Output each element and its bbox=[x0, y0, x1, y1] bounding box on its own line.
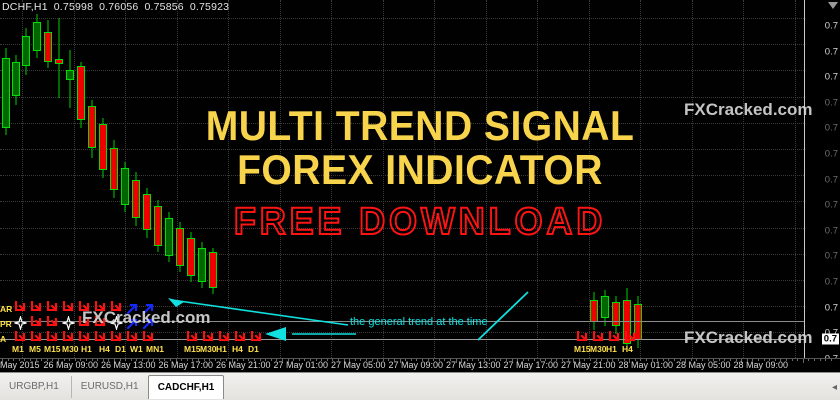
signal-arrow-down bbox=[78, 331, 91, 345]
chart-tab-cadchf-h1[interactable]: CADCHF,H1 bbox=[148, 375, 225, 399]
annotation-label: the general trend at the time bbox=[350, 316, 488, 328]
signal-arrow-down bbox=[592, 331, 605, 345]
metatrader-chart-window: DCHF,H10.759980.760560.758560.75923 ARPR… bbox=[0, 0, 840, 400]
timeframe-label: M30 bbox=[62, 344, 79, 354]
signal-arrow-down bbox=[14, 301, 27, 315]
timeframe-label: M1 bbox=[12, 344, 24, 354]
timeframe-label: H4 bbox=[99, 344, 110, 354]
timeframe-label: M15 bbox=[44, 344, 61, 354]
signal-arrow-down bbox=[62, 301, 75, 315]
promo-title-line1: MULTI TREND SIGNAL bbox=[29, 104, 810, 148]
timeframe-label: D1 bbox=[115, 344, 126, 354]
timeframe-label: H1 bbox=[81, 344, 92, 354]
tabbar-overflow-icon[interactable]: ◂ bbox=[832, 382, 837, 393]
timeframe-label: H4 bbox=[232, 344, 243, 354]
signal-arrow-down bbox=[624, 331, 637, 345]
signal-arrow-neutral bbox=[14, 316, 27, 330]
timeframe-label: M30 bbox=[200, 344, 217, 354]
watermark-center-left: FXCracked.com bbox=[82, 308, 211, 328]
signal-arrow-down bbox=[234, 331, 247, 345]
signal-arrow-down bbox=[186, 331, 199, 345]
signal-row-label: AR bbox=[0, 304, 12, 314]
signal-arrow-down bbox=[250, 331, 263, 345]
signal-arrow-down bbox=[62, 331, 75, 345]
signal-arrow-down bbox=[46, 331, 59, 345]
signal-row-label: A bbox=[0, 334, 6, 344]
signal-arrow-neutral bbox=[62, 316, 75, 330]
timeframe-label: M15 bbox=[184, 344, 201, 354]
signal-row-label: PR bbox=[0, 319, 12, 329]
signal-arrow-down bbox=[218, 331, 231, 345]
signal-arrow-down bbox=[608, 331, 621, 345]
signal-arrow-down bbox=[126, 331, 139, 345]
signal-arrow-down bbox=[142, 331, 155, 345]
chart-tab-eurusd-h1[interactable]: EURUSD,H1 bbox=[71, 376, 148, 398]
timeframe-label: M30 bbox=[590, 344, 607, 354]
chart-tab-bar[interactable]: URGBP,H1EURUSD,H1CADCHF,H1 ◂ bbox=[0, 372, 840, 400]
signal-arrow-down bbox=[30, 301, 43, 315]
signal-arrow-down bbox=[30, 316, 43, 330]
promo-subtitle-free-download: FREE DOWNLOAD bbox=[21, 202, 819, 242]
signal-arrow-down bbox=[94, 331, 107, 345]
signal-arrow-down bbox=[202, 331, 215, 345]
watermark-bottom-right: FXCracked.com bbox=[684, 328, 813, 348]
timeframe-label: D1 bbox=[248, 344, 259, 354]
timeframe-label: M5 bbox=[29, 344, 41, 354]
timeframe-label: H4 bbox=[622, 344, 633, 354]
promo-title-line2: FOREX INDICATOR bbox=[29, 148, 810, 192]
signal-arrow-down bbox=[46, 301, 59, 315]
timeframe-label: W1 bbox=[130, 344, 143, 354]
chart-scroll-marker-icon[interactable] bbox=[828, 2, 838, 10]
signal-arrow-down bbox=[46, 316, 59, 330]
timeframe-label: H1 bbox=[606, 344, 617, 354]
timeframe-label: M15 bbox=[574, 344, 591, 354]
timeframe-label: H1 bbox=[216, 344, 227, 354]
signal-arrow-down bbox=[14, 331, 27, 345]
signal-arrow-down bbox=[30, 331, 43, 345]
timeframe-label: MN1 bbox=[146, 344, 164, 354]
signal-arrow-down bbox=[110, 331, 123, 345]
promo-overlay: MULTI TREND SIGNAL FOREX INDICATOR FREE … bbox=[0, 104, 840, 242]
chart-tab-urgbp-h1[interactable]: URGBP,H1 bbox=[0, 376, 68, 398]
signal-arrow-down bbox=[576, 331, 589, 345]
